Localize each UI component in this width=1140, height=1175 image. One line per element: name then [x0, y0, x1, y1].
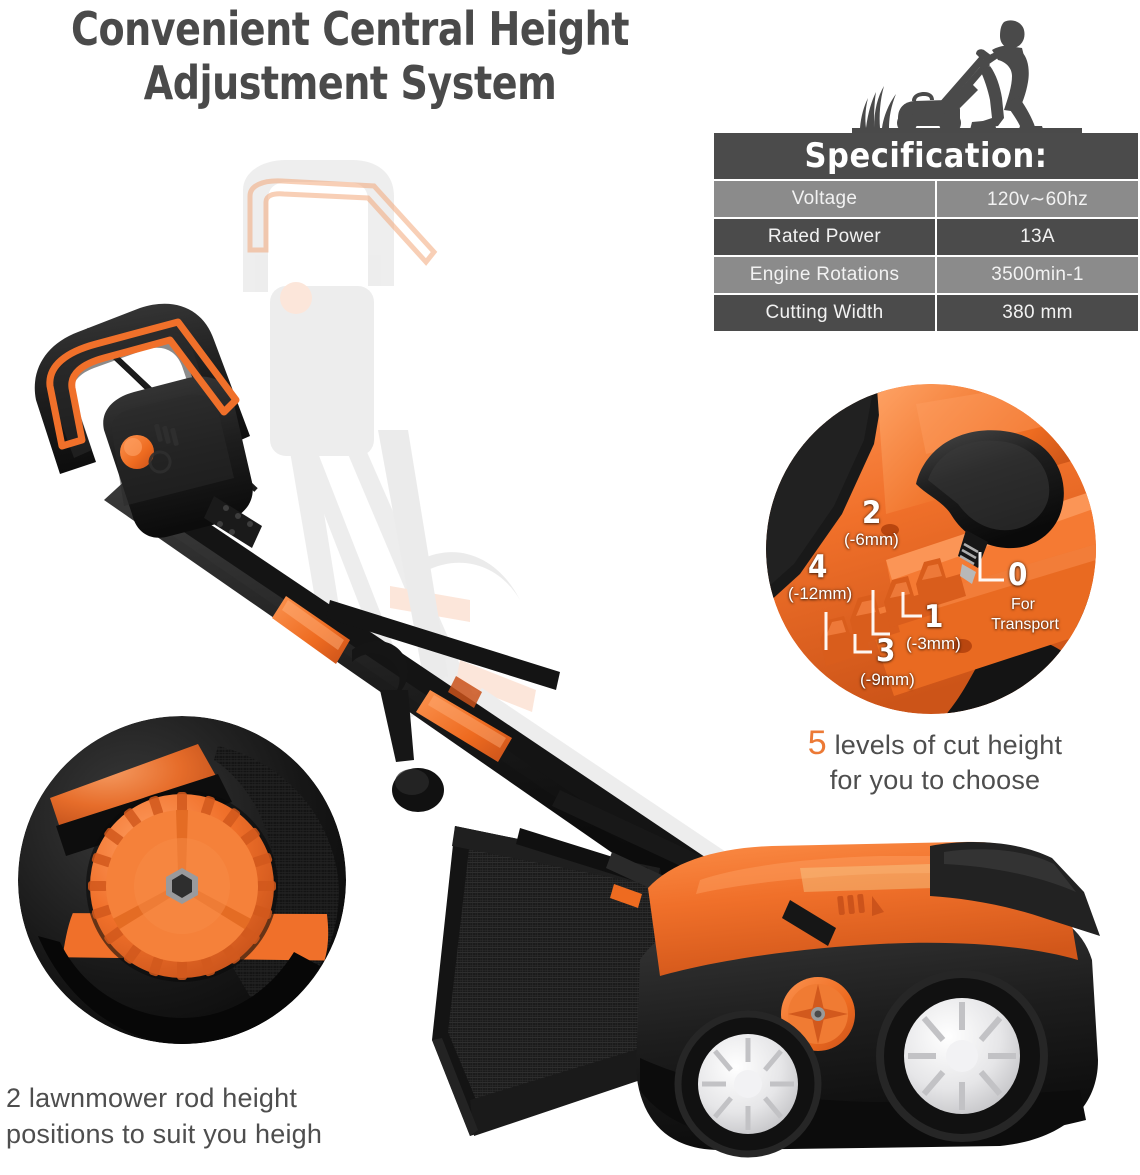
ghost-bail-bar — [250, 181, 434, 262]
height-marker-1-mm: (-3mm) — [906, 634, 961, 653]
spec-value: 13A — [937, 219, 1138, 255]
rod-cable-clips — [272, 596, 512, 762]
rear-wheel — [878, 972, 1046, 1140]
spec-value: 120v∼60hz — [937, 181, 1138, 217]
spec-value: 380 mm — [937, 295, 1138, 331]
cut-height-caption: 5 levels of cut height for you to choose — [770, 726, 1100, 798]
height-marker-0: 0 — [1008, 560, 1027, 591]
mower-body — [636, 842, 1100, 1150]
cut-height-text-1: levels of cut height — [827, 730, 1062, 760]
spec-value: 3500min-1 — [937, 257, 1138, 293]
height-marker-4: 4 — [808, 552, 827, 583]
handle-mount — [782, 900, 836, 946]
height-marker-4-mm: (-12mm) — [788, 584, 852, 603]
front-wheel — [676, 1012, 820, 1156]
spec-table-heading: Specification: — [714, 133, 1138, 179]
height-marker-3-mm: (-9mm) — [860, 670, 915, 689]
spec-label: Voltage — [714, 181, 937, 217]
infographic-canvas: Convenient Central Height Adjustment Sys… — [0, 0, 1140, 1175]
height-marker-0-line2: Transport — [970, 616, 1080, 634]
cut-height-text-2: for you to choose — [830, 765, 1041, 795]
rod-caption-line-2: positions to suit you heigh — [6, 1119, 322, 1149]
page-title: Convenient Central Height Adjustment Sys… — [0, 2, 700, 110]
height-marker-3: 3 — [876, 636, 895, 667]
deck-height-knob-icon — [781, 977, 855, 1051]
safety-button-icon — [120, 435, 154, 469]
table-row: Voltage 120v∼60hz — [714, 179, 1138, 217]
grass-collection-bag — [432, 826, 700, 1136]
specification-table: Specification: Voltage 120v∼60hz Rated P… — [714, 133, 1138, 331]
table-row: Engine Rotations 3500min-1 — [714, 255, 1138, 293]
rod-caption-line-1: 2 lawnmower rod height — [6, 1083, 297, 1113]
cut-height-count: 5 — [808, 724, 827, 762]
spec-label: Rated Power — [714, 219, 937, 255]
height-marker-2-mm: (-6mm) — [844, 530, 899, 549]
table-row: Rated Power 13A — [714, 217, 1138, 255]
rod-position-caption: 2 lawnmower rod height positions to suit… — [6, 1080, 386, 1152]
spec-label: Engine Rotations — [714, 257, 937, 293]
mower-handle-grip — [35, 304, 262, 548]
mower-man-silhouette-icon — [852, 0, 1082, 140]
safety-bail-bar — [50, 322, 236, 446]
ghost-handle-overlay — [243, 160, 726, 866]
height-marker-0-line1: For — [978, 596, 1068, 614]
cut-height-rail-closeup: 4 (-12mm) 2 (-6mm) 3 (-9mm) 1 (-3mm) 0 F… — [766, 384, 1096, 714]
height-marker-2: 2 — [862, 498, 881, 529]
height-marker-1: 1 — [924, 602, 943, 633]
title-line-1: Convenient Central Height — [28, 2, 672, 56]
table-row: Cutting Width 380 mm — [714, 293, 1138, 331]
height-adjust-knob-closeup — [18, 716, 346, 1044]
title-line-2: Adjustment System — [28, 56, 672, 110]
spec-label: Cutting Width — [714, 295, 937, 331]
